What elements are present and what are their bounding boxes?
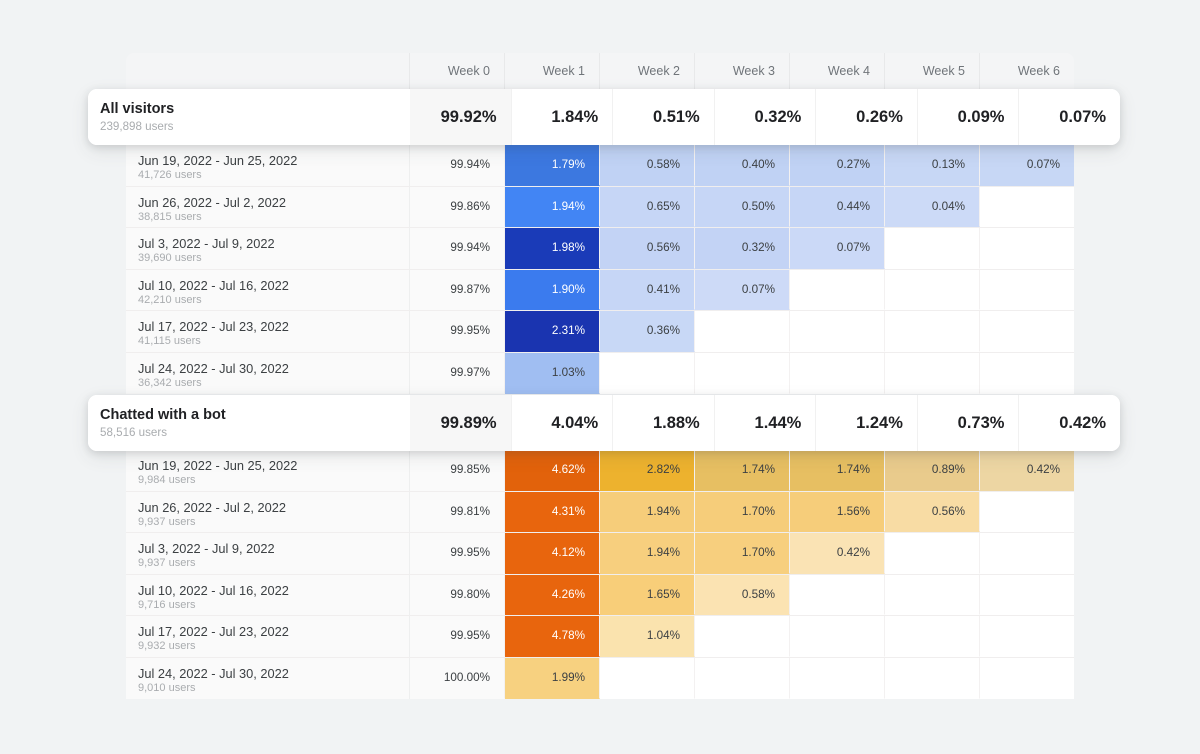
- retention-cell-week-1[interactable]: 4.26%: [505, 575, 600, 616]
- table-row[interactable]: Jul 10, 2022 - Jul 16, 202242,210 users9…: [126, 270, 1074, 312]
- row-date-range: Jul 24, 2022 - Jul 30, 2022: [138, 666, 409, 681]
- retention-cell-week-2: [600, 353, 695, 395]
- retention-cell-week-4[interactable]: 1.74%: [790, 450, 885, 491]
- header-cell-week-3[interactable]: Week 3: [695, 53, 790, 89]
- retention-cell-week-0[interactable]: 99.80%: [410, 575, 505, 616]
- retention-cell-week-6: [980, 228, 1074, 269]
- retention-cell-week-1[interactable]: 2.31%: [505, 311, 600, 352]
- retention-cell-week-4[interactable]: 0.27%: [790, 145, 885, 186]
- row-user-count: 9,937 users: [138, 515, 409, 529]
- retention-cell-week-6: [980, 270, 1074, 311]
- retention-cell-week-0[interactable]: 99.87%: [410, 270, 505, 311]
- row-label: Jul 10, 2022 - Jul 16, 202242,210 users: [126, 270, 410, 311]
- retention-cell-week-3[interactable]: 1.74%: [695, 450, 790, 491]
- table-row[interactable]: Jun 19, 2022 - Jun 25, 20229,984 users99…: [126, 450, 1074, 492]
- summary-cell-week-1: 4.04%: [511, 395, 613, 451]
- retention-cell-week-6: [980, 616, 1074, 657]
- retention-cell-week-3: [695, 353, 790, 395]
- row-label: Jun 26, 2022 - Jul 2, 20229,937 users: [126, 492, 410, 533]
- table-row[interactable]: Jul 24, 2022 - Jul 30, 202236,342 users9…: [126, 353, 1074, 395]
- retention-cell-week-2[interactable]: 0.56%: [600, 228, 695, 269]
- row-date-range: Jul 17, 2022 - Jul 23, 2022: [138, 319, 409, 334]
- summary-cell-week-0: 99.92%: [410, 89, 511, 145]
- retention-cell-week-0[interactable]: 99.86%: [410, 187, 505, 228]
- retention-cell-week-0[interactable]: 100.00%: [410, 658, 505, 700]
- retention-cell-week-2[interactable]: 1.94%: [600, 492, 695, 533]
- retention-cell-week-5: [885, 353, 980, 395]
- retention-cell-week-0[interactable]: 99.94%: [410, 145, 505, 186]
- retention-cell-week-1[interactable]: 1.99%: [505, 658, 600, 700]
- table-row[interactable]: Jul 3, 2022 - Jul 9, 20229,937 users99.9…: [126, 533, 1074, 575]
- retention-cell-week-0[interactable]: 99.95%: [410, 311, 505, 352]
- retention-cell-week-6: [980, 311, 1074, 352]
- retention-cell-week-5[interactable]: 0.04%: [885, 187, 980, 228]
- row-user-count: 36,342 users: [138, 376, 409, 390]
- retention-cell-week-3: [695, 658, 790, 700]
- retention-cell-week-4[interactable]: 0.42%: [790, 533, 885, 574]
- row-user-count: 39,690 users: [138, 251, 409, 265]
- retention-cell-week-2[interactable]: 0.58%: [600, 145, 695, 186]
- retention-cell-week-3[interactable]: 0.32%: [695, 228, 790, 269]
- retention-cell-week-3[interactable]: 0.50%: [695, 187, 790, 228]
- retention-cell-week-2[interactable]: 1.94%: [600, 533, 695, 574]
- retention-cell-week-4: [790, 270, 885, 311]
- retention-cell-week-3: [695, 311, 790, 352]
- header-cell-cohort: [126, 53, 410, 89]
- summary-row-chatted-with-a-bot[interactable]: Chatted with a bot 58,516 users 99.89% 4…: [88, 395, 1120, 451]
- row-label: Jun 19, 2022 - Jun 25, 20229,984 users: [126, 450, 410, 491]
- retention-cell-week-3: [695, 616, 790, 657]
- header-cell-week-6[interactable]: Week 6: [980, 53, 1074, 89]
- row-label: Jul 3, 2022 - Jul 9, 20229,937 users: [126, 533, 410, 574]
- row-user-count: 42,210 users: [138, 293, 409, 307]
- row-user-count: 41,115 users: [138, 334, 409, 348]
- retention-cell-week-1[interactable]: 1.90%: [505, 270, 600, 311]
- retention-cell-week-6: [980, 492, 1074, 533]
- summary-cell-week-6: 0.42%: [1018, 395, 1120, 451]
- row-date-range: Jul 10, 2022 - Jul 16, 2022: [138, 278, 409, 293]
- row-date-range: Jul 17, 2022 - Jul 23, 2022: [138, 624, 409, 639]
- summary-cell-week-4: 1.24%: [815, 395, 917, 451]
- retention-cell-week-6: [980, 658, 1074, 700]
- summary-row-all-visitors[interactable]: All visitors 239,898 users 99.92% 1.84% …: [88, 89, 1120, 145]
- retention-cell-week-0[interactable]: 99.81%: [410, 492, 505, 533]
- retention-cell-week-5: [885, 533, 980, 574]
- row-date-range: Jun 19, 2022 - Jun 25, 2022: [138, 153, 409, 168]
- retention-cell-week-2[interactable]: 1.04%: [600, 616, 695, 657]
- summary-cell-week-4: 0.26%: [815, 89, 917, 145]
- row-label: Jun 19, 2022 - Jun 25, 202241,726 users: [126, 145, 410, 186]
- retention-cell-week-0[interactable]: 99.95%: [410, 616, 505, 657]
- retention-cell-week-4: [790, 311, 885, 352]
- row-date-range: Jul 3, 2022 - Jul 9, 2022: [138, 236, 409, 251]
- retention-cell-week-3[interactable]: 1.70%: [695, 533, 790, 574]
- row-user-count: 38,815 users: [138, 210, 409, 224]
- header-cell-week-5[interactable]: Week 5: [885, 53, 980, 89]
- retention-cell-week-4: [790, 575, 885, 616]
- row-user-count: 9,932 users: [138, 639, 409, 653]
- summary-title: Chatted with a bot: [100, 406, 410, 425]
- row-date-range: Jun 19, 2022 - Jun 25, 2022: [138, 458, 409, 473]
- summary-cell-week-3: 0.32%: [714, 89, 816, 145]
- retention-cell-week-1[interactable]: 4.62%: [505, 450, 600, 491]
- header-cell-week-0[interactable]: Week 0: [410, 53, 505, 89]
- retention-cell-week-2[interactable]: 0.41%: [600, 270, 695, 311]
- retention-cell-week-4: [790, 353, 885, 395]
- row-date-range: Jul 3, 2022 - Jul 9, 2022: [138, 541, 409, 556]
- retention-cell-week-0[interactable]: 99.97%: [410, 353, 505, 395]
- retention-cell-week-6: [980, 187, 1074, 228]
- retention-cell-week-3[interactable]: 0.40%: [695, 145, 790, 186]
- retention-cell-week-1[interactable]: 4.12%: [505, 533, 600, 574]
- summary-cell-week-1: 1.84%: [511, 89, 613, 145]
- retention-cell-week-4: [790, 658, 885, 700]
- retention-cell-week-2[interactable]: 1.65%: [600, 575, 695, 616]
- retention-cell-week-2: [600, 658, 695, 700]
- table-row[interactable]: Jul 17, 2022 - Jul 23, 20229,932 users99…: [126, 616, 1074, 658]
- retention-cell-week-1[interactable]: 1.79%: [505, 145, 600, 186]
- row-date-range: Jul 10, 2022 - Jul 16, 2022: [138, 583, 409, 598]
- summary-cell-week-2: 0.51%: [612, 89, 714, 145]
- row-date-range: Jul 24, 2022 - Jul 30, 2022: [138, 361, 409, 376]
- retention-cell-week-6: [980, 533, 1074, 574]
- retention-cell-week-6: [980, 575, 1074, 616]
- summary-label-chatted-with-a-bot: Chatted with a bot 58,516 users: [88, 395, 410, 451]
- row-label: Jul 24, 2022 - Jul 30, 20229,010 users: [126, 658, 410, 700]
- retention-cell-week-3[interactable]: 1.70%: [695, 492, 790, 533]
- retention-cell-week-2[interactable]: 0.65%: [600, 187, 695, 228]
- table-row[interactable]: Jul 10, 2022 - Jul 16, 20229,716 users99…: [126, 575, 1074, 617]
- table-row[interactable]: Jun 26, 2022 - Jul 2, 20229,937 users99.…: [126, 492, 1074, 534]
- row-date-range: Jun 26, 2022 - Jul 2, 2022: [138, 500, 409, 515]
- summary-cell-week-5: 0.73%: [917, 395, 1019, 451]
- retention-cell-week-6[interactable]: 0.42%: [980, 450, 1074, 491]
- retention-cell-week-0[interactable]: 99.85%: [410, 450, 505, 491]
- retention-cell-week-3[interactable]: 0.58%: [695, 575, 790, 616]
- table-row[interactable]: Jun 19, 2022 - Jun 25, 202241,726 users9…: [126, 145, 1074, 187]
- retention-cell-week-4[interactable]: 0.07%: [790, 228, 885, 269]
- row-user-count: 9,984 users: [138, 473, 409, 487]
- retention-cell-week-5: [885, 616, 980, 657]
- retention-cell-week-5: [885, 575, 980, 616]
- retention-cell-week-1[interactable]: 4.78%: [505, 616, 600, 657]
- retention-cell-week-4[interactable]: 0.44%: [790, 187, 885, 228]
- retention-cell-week-0[interactable]: 99.94%: [410, 228, 505, 269]
- table-row[interactable]: Jun 26, 2022 - Jul 2, 202238,815 users99…: [126, 187, 1074, 229]
- retention-cell-week-2[interactable]: 0.36%: [600, 311, 695, 352]
- retention-cell-week-1[interactable]: 1.98%: [505, 228, 600, 269]
- row-user-count: 9,937 users: [138, 556, 409, 570]
- row-label: Jun 26, 2022 - Jul 2, 202238,815 users: [126, 187, 410, 228]
- retention-cell-week-6: [980, 353, 1074, 395]
- retention-cell-week-5: [885, 658, 980, 700]
- row-label: Jul 17, 2022 - Jul 23, 202241,115 users: [126, 311, 410, 352]
- retention-cell-week-1[interactable]: 1.94%: [505, 187, 600, 228]
- summary-cell-week-2: 1.88%: [612, 395, 714, 451]
- header-cell-week-4[interactable]: Week 4: [790, 53, 885, 89]
- retention-cell-week-5: [885, 228, 980, 269]
- retention-cell-week-5[interactable]: 0.89%: [885, 450, 980, 491]
- cohort-retention-report: Week 0 Week 1 Week 2 Week 3 Week 4 Week …: [0, 0, 1200, 754]
- retention-cell-week-2[interactable]: 2.82%: [600, 450, 695, 491]
- summary-cell-week-5: 0.09%: [917, 89, 1019, 145]
- retention-cell-week-6[interactable]: 0.07%: [980, 145, 1074, 186]
- row-user-count: 41,726 users: [138, 168, 409, 182]
- table-header-row: Week 0 Week 1 Week 2 Week 3 Week 4 Week …: [126, 53, 1074, 89]
- row-label: Jul 17, 2022 - Jul 23, 20229,932 users: [126, 616, 410, 657]
- summary-title: All visitors: [100, 100, 410, 119]
- cohort-group-all-visitors-rows: Jun 19, 2022 - Jun 25, 202241,726 users9…: [126, 145, 1074, 394]
- row-label: Jul 24, 2022 - Jul 30, 202236,342 users: [126, 353, 410, 395]
- table-row[interactable]: Jul 24, 2022 - Jul 30, 20229,010 users10…: [126, 658, 1074, 700]
- table-row[interactable]: Jul 3, 2022 - Jul 9, 202239,690 users99.…: [126, 228, 1074, 270]
- row-label: Jul 10, 2022 - Jul 16, 20229,716 users: [126, 575, 410, 616]
- summary-label-all-visitors: All visitors 239,898 users: [88, 89, 410, 145]
- row-user-count: 9,010 users: [138, 681, 409, 695]
- summary-user-count: 239,898 users: [100, 119, 410, 134]
- retention-cell-week-4[interactable]: 1.56%: [790, 492, 885, 533]
- retention-cell-week-3[interactable]: 0.07%: [695, 270, 790, 311]
- row-label: Jul 3, 2022 - Jul 9, 202239,690 users: [126, 228, 410, 269]
- header-cell-week-2[interactable]: Week 2: [600, 53, 695, 89]
- summary-user-count: 58,516 users: [100, 425, 410, 440]
- summary-cell-week-6: 0.07%: [1018, 89, 1120, 145]
- row-date-range: Jun 26, 2022 - Jul 2, 2022: [138, 195, 409, 210]
- table-row[interactable]: Jul 17, 2022 - Jul 23, 202241,115 users9…: [126, 311, 1074, 353]
- retention-cell-week-5[interactable]: 0.13%: [885, 145, 980, 186]
- retention-cell-week-4: [790, 616, 885, 657]
- summary-cell-week-0: 99.89%: [410, 395, 511, 451]
- cohort-group-chatted-with-a-bot-rows: Jun 19, 2022 - Jun 25, 20229,984 users99…: [126, 450, 1074, 699]
- summary-cell-week-3: 1.44%: [714, 395, 816, 451]
- header-cell-week-1[interactable]: Week 1: [505, 53, 600, 89]
- row-user-count: 9,716 users: [138, 598, 409, 612]
- retention-cell-week-5: [885, 311, 980, 352]
- retention-cell-week-1[interactable]: 4.31%: [505, 492, 600, 533]
- retention-cell-week-1[interactable]: 1.03%: [505, 353, 600, 395]
- retention-cell-week-5: [885, 270, 980, 311]
- retention-cell-week-0[interactable]: 99.95%: [410, 533, 505, 574]
- retention-cell-week-5[interactable]: 0.56%: [885, 492, 980, 533]
